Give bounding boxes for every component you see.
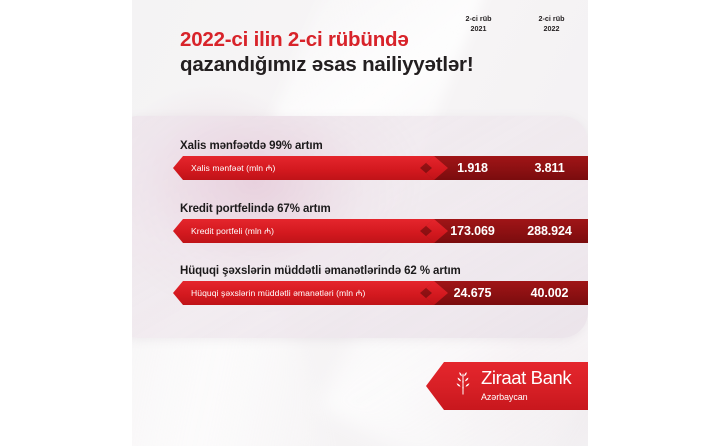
column-header-year: 2022 xyxy=(515,24,588,34)
logo-subtitle: Azərbaycan xyxy=(481,392,528,402)
metric-bar-label: Hüquqi şəxslərin müddətli əmanətləri (ml… xyxy=(191,287,365,299)
metric-bar: Hüquqi şəxslərin müddətli əmanətləri (ml… xyxy=(173,281,588,305)
column-header-year: 2021 xyxy=(442,24,515,34)
metric-value-2022: 40.002 xyxy=(511,286,588,300)
infographic-panel: 2022-ci ilin 2-ci rübündə qazandığımız ə… xyxy=(132,0,588,446)
metric-row: Kredit portfelində 67% artım Kredit port… xyxy=(132,203,588,243)
column-header-period: 2-ci rüb xyxy=(539,14,565,23)
metric-title: Kredit portfelində 67% artım xyxy=(180,203,588,215)
wheat-sheaf-icon xyxy=(452,369,474,402)
logo-name: Ziraat Bank xyxy=(481,367,571,388)
metric-rows: Xalis mənfəətdə 99% artım Xalis mənfəət … xyxy=(132,0,588,305)
metric-values-block: 24.675 40.002 xyxy=(420,281,588,305)
metric-value-2021: 24.675 xyxy=(420,286,511,300)
metric-value-2021: 1.918 xyxy=(420,161,511,175)
metric-values-block: 173.069 288.924 xyxy=(420,219,588,243)
metric-bar: Kredit portfeli (mln ₼) 173.069 288.924 xyxy=(173,219,588,243)
metric-value-2021: 173.069 xyxy=(420,224,511,238)
metric-title: Hüquqi şəxslərin müddətli əmanətlərində … xyxy=(180,265,588,277)
column-header-period: 2-ci rüb xyxy=(466,14,492,23)
metric-row: Hüquqi şəxslərin müddətli əmanətlərində … xyxy=(132,265,588,305)
metric-value-2022: 3.811 xyxy=(511,161,588,175)
infographic-screenshot: 2022-ci ilin 2-ci rübündə qazandığımız ə… xyxy=(0,0,720,446)
metric-bar-label: Kredit portfeli (mln ₼) xyxy=(191,225,274,237)
metric-title: Xalis mənfəətdə 99% artım xyxy=(180,140,588,152)
metric-values-block: 1.918 3.811 xyxy=(420,156,588,180)
metric-value-2022: 288.924 xyxy=(511,224,588,238)
column-header-2021: 2-ci rüb 2021 xyxy=(442,14,515,33)
column-header-2022: 2-ci rüb 2022 xyxy=(515,14,588,33)
metric-bar-label-area: Kredit portfeli (mln ₼) xyxy=(173,219,434,243)
metric-bar-label-area: Xalis mənfəət (mln ₼) xyxy=(173,156,434,180)
logo-text: Ziraat Bank Azərbaycan xyxy=(481,369,588,404)
metric-bar-label: Xalis mənfəət (mln ₼) xyxy=(191,162,275,174)
metric-bar: Xalis mənfəət (mln ₼) 1.918 3.811 xyxy=(173,156,588,180)
column-headers: 2-ci rüb 2021 2-ci rüb 2022 xyxy=(442,14,588,33)
ziraat-bank-logo-banner: Ziraat Bank Azərbaycan xyxy=(426,362,588,410)
metric-row: Xalis mənfəətdə 99% artım Xalis mənfəət … xyxy=(132,140,588,180)
metric-bar-label-area: Hüquqi şəxslərin müddətli əmanətləri (ml… xyxy=(173,281,434,305)
